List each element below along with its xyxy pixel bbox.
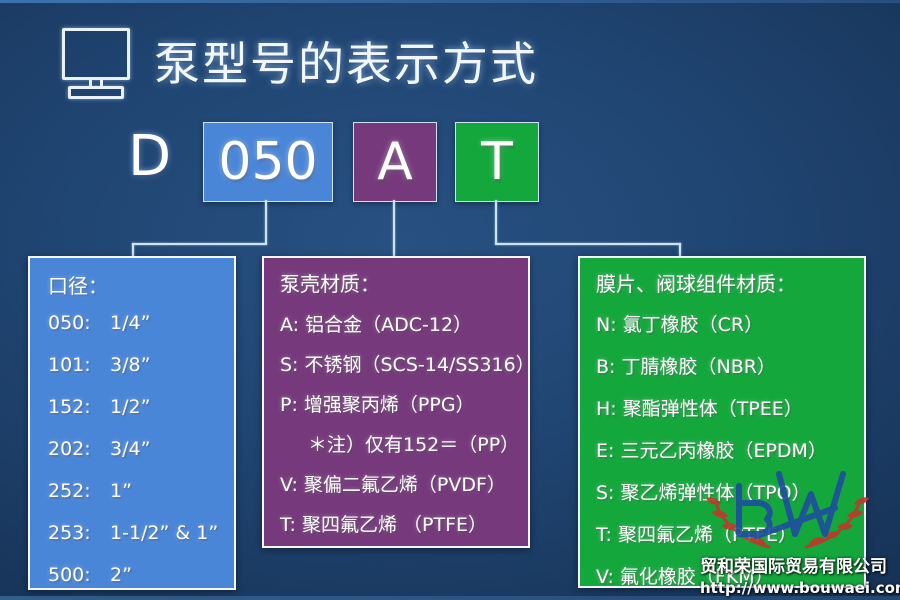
list-item-note: ＊注）仅有152＝（PP）	[308, 430, 519, 457]
connector-bore-drop	[132, 243, 134, 257]
bore-row-value: 1/2”	[110, 396, 150, 418]
list-item: H: 聚酯弹性体（TPEE）	[596, 394, 803, 421]
list-item: S: 聚乙烯弹性体（TPO）	[596, 478, 811, 505]
bore-row-code: 202:	[48, 438, 110, 460]
panel-bore: 口径： 050: 1/4” 101: 3/8” 152: 1/2” 202: 3…	[28, 256, 236, 590]
connector-bore-horizontal	[132, 243, 267, 245]
diaphragm-code-label: T	[481, 132, 513, 192]
table-row: 252: 1”	[48, 480, 132, 502]
bore-row-value: 1/4”	[110, 312, 150, 334]
bore-row-code: 253:	[48, 522, 110, 544]
list-item: E: 三元乙丙橡胶（EPDM）	[596, 436, 827, 463]
slide-canvas: 泵型号的表示方式 D 050 A T 口径： 050: 1/4” 101: 3/…	[0, 0, 900, 600]
list-item: T: 聚四氟乙烯（PTFE）	[596, 520, 797, 547]
bore-row-code: 252:	[48, 480, 110, 502]
bore-row-code: 101:	[48, 354, 110, 376]
list-item: P: 增强聚丙烯（PPG）	[280, 390, 475, 417]
list-item: T: 聚四氟乙烯 （PTFE）	[280, 510, 487, 537]
casing-code-label: A	[377, 132, 413, 192]
bore-code-label: 050	[218, 132, 317, 192]
page-header: 泵型号的表示方式	[60, 28, 538, 94]
connector-diaphragm-drop	[679, 243, 681, 257]
model-prefix-letter: D	[128, 129, 171, 185]
connector-diaphragm-horizontal	[495, 243, 681, 245]
page-title: 泵型号的表示方式	[154, 28, 538, 94]
table-row: 101: 3/8”	[48, 354, 150, 376]
panel-diaphragm-material: 膜片、阀球组件材质： N: 氯丁橡胶（CR） B: 丁腈橡胶（NBR） H: 聚…	[578, 256, 866, 588]
list-item: A: 铝合金（ADC-12）	[280, 310, 472, 337]
diaphragm-code-box[interactable]: T	[455, 122, 539, 202]
list-item: V: 氟化橡胶（FKM）	[596, 562, 774, 588]
panel-diaphragm-title: 膜片、阀球组件材质：	[596, 268, 796, 297]
casing-code-box[interactable]: A	[353, 122, 437, 202]
connector-casing-vertical	[393, 200, 395, 257]
monitor-icon	[60, 28, 132, 94]
connector-bore-vertical	[265, 200, 267, 244]
bore-row-code: 152:	[48, 396, 110, 418]
bore-row-code: 500:	[48, 564, 110, 586]
list-item: N: 氯丁橡胶（CR）	[596, 310, 763, 337]
list-item: V: 聚偏二氟乙烯（PVDF）	[280, 470, 506, 497]
panel-casing-material: 泵壳材质： A: 铝合金（ADC-12） S: 不锈钢（SCS-14/SS316…	[262, 256, 530, 548]
bore-row-code: 050:	[48, 312, 110, 334]
bore-row-value: 1-1/2” & 1”	[110, 522, 218, 544]
bottom-border-line	[0, 596, 900, 600]
panel-casing-title: 泵壳材质：	[280, 268, 380, 297]
monitor-screen-shape	[62, 28, 130, 80]
bore-row-value: 1”	[110, 480, 132, 502]
table-row: 050: 1/4”	[48, 312, 150, 334]
top-border-line	[0, 0, 900, 3]
table-row: 202: 3/4”	[48, 438, 150, 460]
bore-row-value: 2”	[110, 564, 132, 586]
table-row: 253: 1-1/2” & 1”	[48, 522, 218, 544]
table-row: 500: 2”	[48, 564, 132, 586]
list-item: B: 丁腈橡胶（NBR）	[596, 352, 776, 379]
bore-row-value: 3/8”	[110, 354, 150, 376]
bore-row-value: 3/4”	[110, 438, 150, 460]
table-row: 152: 1/2”	[48, 396, 150, 418]
list-item: S: 不锈钢（SCS-14/SS316）	[280, 350, 530, 377]
panel-bore-title: 口径：	[48, 270, 108, 299]
bore-code-box[interactable]: 050	[203, 122, 333, 202]
connector-diaphragm-vertical	[495, 200, 497, 244]
monitor-base-shape	[68, 86, 124, 99]
